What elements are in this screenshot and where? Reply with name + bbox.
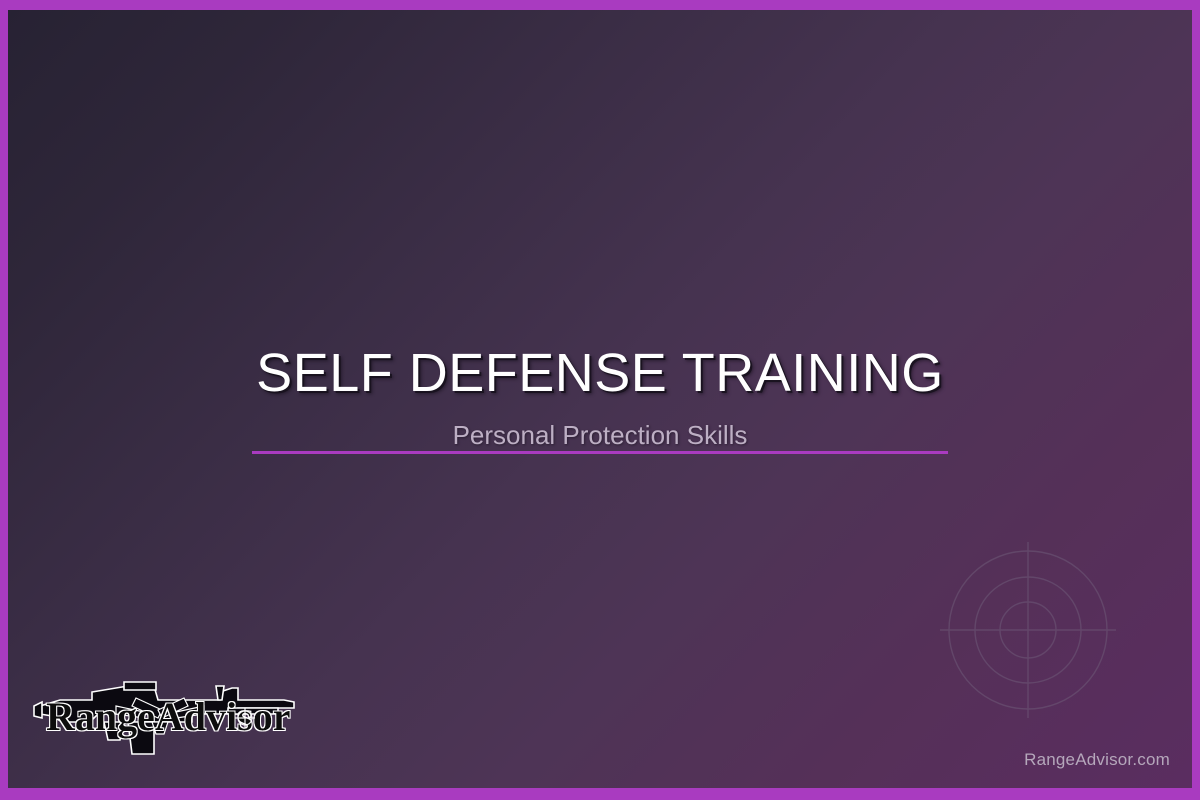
page-title: SELF DEFENSE TRAINING	[8, 346, 1192, 400]
title-block: SELF DEFENSE TRAINING Personal Protectio…	[8, 346, 1192, 448]
presentation-slide: SELF DEFENSE TRAINING Personal Protectio…	[0, 0, 1200, 800]
footer-url: RangeAdvisor.com	[1024, 750, 1170, 770]
slide-background-panel: SELF DEFENSE TRAINING Personal Protectio…	[8, 10, 1192, 788]
brand-wordmark: RangeAdvisor	[46, 694, 290, 739]
page-subtitle: Personal Protection Skills	[8, 422, 1192, 448]
crosshair-target-icon	[938, 540, 1118, 720]
title-divider	[252, 451, 948, 454]
brand-logo: RangeAdvisor	[32, 678, 302, 756]
